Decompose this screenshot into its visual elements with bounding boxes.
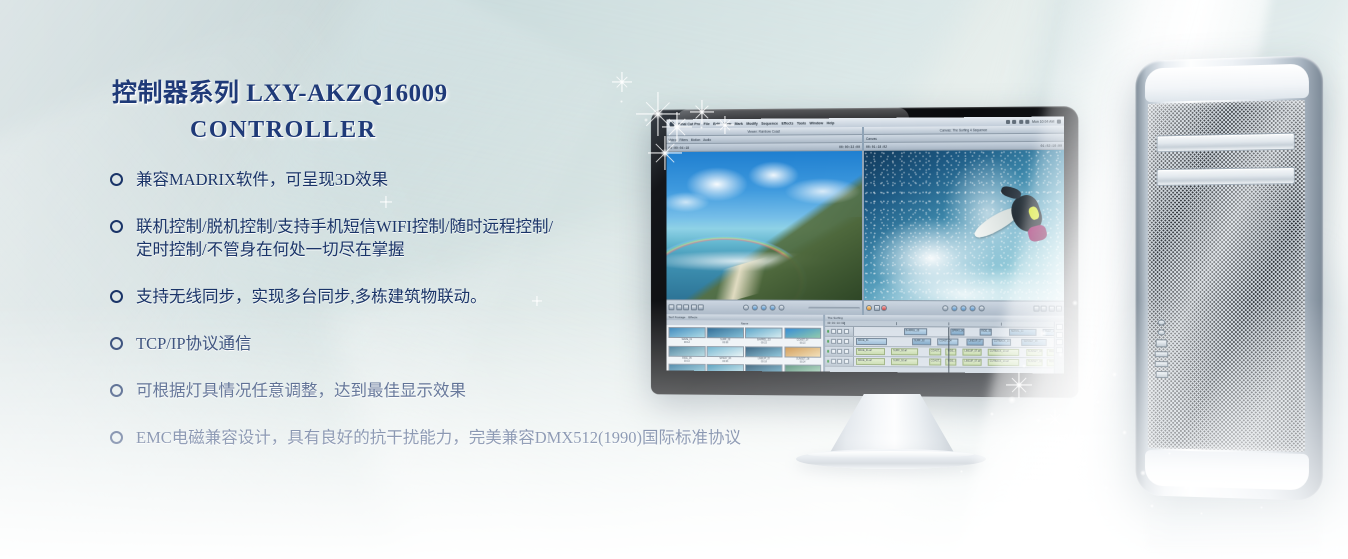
optical-drive-bay-2[interactable] xyxy=(1157,167,1295,186)
timeline-clip[interactable]: BARREL_03 xyxy=(904,328,927,336)
viewer-left-duration-timecode[interactable]: 00:00:32:00 xyxy=(839,145,860,149)
replace-edit-icon[interactable] xyxy=(1048,306,1054,312)
tower-mesh-grille xyxy=(1148,100,1305,452)
surfer-wave-image xyxy=(864,150,1064,301)
status-led-icon xyxy=(1158,329,1166,335)
clip-thumbnail-grid[interactable]: WAVE_0100:12SURF_0200:08BARREL_0300:15CO… xyxy=(667,325,824,372)
bokeh-particle xyxy=(1090,340,1094,344)
menu-item-mark[interactable]: Mark xyxy=(735,121,743,125)
menu-item-help[interactable]: Help xyxy=(827,121,835,125)
clip-thumbnail[interactable]: REEF_1200:16 xyxy=(784,364,821,371)
bokeh-particle xyxy=(1104,486,1108,490)
spotlight-icon[interactable] xyxy=(1057,119,1061,123)
linking-icon[interactable] xyxy=(1056,347,1063,353)
timeline-clip[interactable]: SUNSET_08.aif xyxy=(1026,359,1043,367)
canvas-play-icon[interactable] xyxy=(960,305,966,311)
timeline-track[interactable]: WAVE_01.aifSURF_02.aifCOAST_04.aifRIDE_0… xyxy=(825,357,1064,369)
clip-thumbnail-image xyxy=(668,364,705,372)
volume-icon[interactable] xyxy=(1012,119,1016,123)
clip-thumbnail-image xyxy=(707,346,744,357)
tab-effects[interactable]: Effects xyxy=(688,315,697,319)
viewer-left-title: Viewer: Rainbow Coast xyxy=(747,129,780,133)
boardshorts-shape xyxy=(1027,223,1048,242)
page-title: 控制器系列 LXY-AKZQ16009 xyxy=(0,78,860,110)
clip-duration-label: 00:24 xyxy=(800,360,806,363)
timeline-clip[interactable]: SURF_02.aif xyxy=(891,348,918,356)
timeline-clip[interactable]: RIDE_05.aif xyxy=(946,348,956,356)
viewer-pane-left: Viewer: Rainbow Coast Video Filters Moti… xyxy=(667,127,862,315)
track-control-icon[interactable] xyxy=(837,329,842,334)
snapping-icon[interactable] xyxy=(1056,339,1063,345)
tab-video[interactable]: Video xyxy=(668,138,676,142)
feature-text: EMC电磁兼容设计，具有良好的抗干扰能力，完美兼容DMX512(1990)国际标… xyxy=(136,426,860,449)
play-icon[interactable] xyxy=(761,305,767,311)
canvas-play-reverse-icon[interactable] xyxy=(951,305,957,311)
timeline-clip[interactable]: WAVE_01.aif xyxy=(856,348,885,356)
bokeh-particle xyxy=(1064,434,1070,440)
clip-thumbnail[interactable]: COAST_0400:21 xyxy=(784,328,821,345)
track-visibility-icon[interactable] xyxy=(827,360,829,363)
tab-filters[interactable]: Filters xyxy=(679,138,687,142)
track-control-icon[interactable] xyxy=(831,339,836,344)
list-item: EMC电磁兼容设计，具有良好的抗干扰能力，完美兼容DMX512(1990)国际标… xyxy=(0,426,860,449)
timeline-right-rail[interactable] xyxy=(1054,322,1064,374)
bokeh-particle xyxy=(1036,418,1041,423)
optical-drive-bay-1[interactable] xyxy=(1157,133,1295,153)
track-visibility-icon[interactable] xyxy=(827,340,829,343)
timeline-timecode: 00:01:18:02 xyxy=(827,322,844,325)
zoom-tool-icon[interactable] xyxy=(683,304,689,310)
bullet-ring-icon xyxy=(110,220,123,233)
bokeh-particle xyxy=(1112,372,1117,377)
clip-thumbnail[interactable]: AERIAL_1100:07 xyxy=(745,364,782,372)
coastal-rainbow-image xyxy=(667,151,862,300)
viewer-left-toolbar[interactable] xyxy=(667,299,862,315)
clip-thumbnail[interactable]: LINEUP_0700:18 xyxy=(745,346,782,363)
timeline-tracks[interactable]: BARREL_03SPRAY_06RIDE_05AERIAL_11REEF_12… xyxy=(825,327,1064,374)
track-control-icon[interactable] xyxy=(837,349,842,354)
track-control-icon[interactable] xyxy=(831,359,836,364)
computer-monitor: Final Cut Pro File Edit View Mark Modify… xyxy=(648,108,1076,396)
timeline-panel: The Surfing 00:01:18:02 BARREL_03SPRAY_0… xyxy=(825,315,1064,374)
clip-thumbnail-image xyxy=(745,327,782,338)
menu-item-app[interactable]: Final Cut Pro xyxy=(678,122,700,126)
viewer-left-scrub-group xyxy=(808,306,860,309)
track-gutter[interactable] xyxy=(825,357,853,366)
track-visibility-icon[interactable] xyxy=(827,350,829,353)
canvas-mark-in-icon[interactable] xyxy=(942,305,948,311)
clip-thumbnail-image xyxy=(668,345,705,356)
timeline-clip[interactable]: WAVE_01 xyxy=(856,338,887,346)
clip-thumbnail-image xyxy=(745,346,782,357)
monitor-stand-base-highlight xyxy=(808,451,974,458)
clip-thumbnail[interactable]: BARREL_0300:15 xyxy=(745,327,782,344)
bokeh-particle xyxy=(1080,460,1087,467)
timeline-clip[interactable]: CUTBACK_10 xyxy=(992,338,1011,346)
track-control-icon[interactable] xyxy=(831,349,836,354)
timeline-clip[interactable]: SURF_02.aif xyxy=(891,358,918,366)
viewer-left-video-image xyxy=(667,151,862,300)
tower-reflection xyxy=(1146,496,1321,550)
menu-item-sequence[interactable]: Sequence xyxy=(761,121,778,125)
track-control-icon[interactable] xyxy=(837,339,842,344)
tower-bottom-panel xyxy=(1145,450,1309,491)
bullet-ring-icon xyxy=(110,173,123,186)
track-control-icon[interactable] xyxy=(831,329,836,334)
timeline-clip[interactable]: SUNSET_08 xyxy=(1022,338,1047,346)
clip-thumbnail-image xyxy=(707,327,744,338)
scrubber-slider[interactable] xyxy=(808,306,860,309)
clip-thumbnail[interactable]: SUNSET_0800:24 xyxy=(784,346,821,363)
canvas-video-image xyxy=(864,150,1064,301)
distort-tool-icon[interactable] xyxy=(698,304,704,310)
bokeh-particle xyxy=(990,412,994,416)
clip-thumbnail-image xyxy=(745,364,782,372)
mark-in-icon[interactable] xyxy=(743,305,749,311)
tab-the-surfing[interactable]: The Surfing xyxy=(827,316,842,320)
bokeh-particle xyxy=(1122,430,1127,435)
canvas-toolbar[interactable] xyxy=(864,300,1064,316)
track-control-icon[interactable] xyxy=(844,329,849,334)
menu-item-view[interactable]: View xyxy=(723,121,731,125)
desktop-tower-computer xyxy=(1135,55,1323,501)
timeline-clip[interactable]: LINEUP_07.aif xyxy=(962,348,981,356)
bokeh-particle xyxy=(1096,400,1100,404)
timeline-clip[interactable]: CUTBACK_10.aif xyxy=(988,358,1020,366)
viewer-left-tool-group xyxy=(668,304,703,310)
menu-item-edit[interactable]: Edit xyxy=(713,122,720,126)
menu-bar-status-area: Mon 10:04 AM xyxy=(1006,119,1061,123)
viewer-left-current-timecode[interactable]: 00:00:04:18 xyxy=(668,146,689,150)
track-control-icon[interactable] xyxy=(844,339,849,344)
menu-item-tools[interactable]: Tools xyxy=(797,121,806,125)
timeline-clip[interactable]: COAST_04.aif xyxy=(929,348,942,356)
bokeh-particle xyxy=(1068,498,1073,503)
fit-to-fill-icon[interactable] xyxy=(1056,306,1062,312)
track-gutter[interactable] xyxy=(825,347,853,356)
bokeh-particle xyxy=(960,470,963,473)
marker-icon[interactable] xyxy=(866,305,872,311)
track-lane[interactable]: BARREL_03SPRAY_06RIDE_05AERIAL_11REEF_12 xyxy=(854,327,1064,337)
product-banner: 控制器系列 LXY-AKZQ16009 CONTROLLER 兼容MADRIX软… xyxy=(0,0,1348,559)
tower-port-panel xyxy=(1153,320,1170,379)
canvas-current-timecode[interactable]: 00:01:18:02 xyxy=(866,144,887,148)
canvas-marker-group xyxy=(866,305,887,311)
firewire-port-icon[interactable] xyxy=(1156,339,1168,347)
lower-panels: Surf Footage Effects Name WAVE_0100:12SU… xyxy=(667,314,1065,373)
tower-top-panel xyxy=(1145,64,1309,103)
canvas-edit-group xyxy=(1033,306,1062,312)
timeline-clip[interactable]: SPRAY_06 xyxy=(950,328,965,336)
insert-edit-icon[interactable] xyxy=(1033,306,1039,312)
selection-tool-icon[interactable] xyxy=(668,304,674,310)
timeline-clip[interactable]: LINEUP_07 xyxy=(967,338,984,346)
usb-port-icon-1[interactable] xyxy=(1155,351,1169,357)
canvas-mark-out-icon[interactable] xyxy=(979,305,985,311)
track-control-icon[interactable] xyxy=(837,359,842,364)
battery-icon[interactable] xyxy=(1025,119,1029,123)
track-lane[interactable]: WAVE_01.aifSURF_02.aifCOAST_04.aifRIDE_0… xyxy=(854,357,1064,367)
clip-thumbnail[interactable]: PADDLE_0900:09 xyxy=(668,364,705,372)
monitor-screen: Final Cut Pro File Edit View Mark Modify… xyxy=(667,117,1065,374)
tab-surf-footage[interactable]: Surf Footage xyxy=(668,315,685,319)
menu-item-modify[interactable]: Modify xyxy=(746,121,757,125)
track-gutter[interactable] xyxy=(825,337,853,346)
sparkle-star-icon xyxy=(1046,410,1064,428)
menu-item-effects[interactable]: Effects xyxy=(781,121,793,125)
clip-thumbnail-image xyxy=(668,327,705,338)
wifi-icon[interactable] xyxy=(1019,119,1023,123)
canvas-duration-timecode[interactable]: 01:02:10:00 xyxy=(1041,143,1062,147)
bokeh-particle xyxy=(1030,500,1033,503)
record-icon[interactable] xyxy=(881,305,887,311)
track-gutter[interactable] xyxy=(825,327,853,336)
apple-logo-icon[interactable] xyxy=(669,121,674,127)
clip-thumbnail-image xyxy=(784,328,821,339)
mark-out-icon[interactable] xyxy=(779,305,785,311)
track-visibility-icon[interactable] xyxy=(827,330,829,333)
timeline-clip[interactable]: SUNSET_08.aif xyxy=(1026,349,1043,357)
bullet-ring-icon xyxy=(110,384,123,397)
bullet-ring-icon xyxy=(110,431,123,444)
clip-duration-label: 00:21 xyxy=(800,342,806,345)
tab-motion[interactable]: Motion xyxy=(691,138,700,142)
canvas-title: Canvas: The Surfing 4 Sequence xyxy=(940,128,987,132)
clip-duration-label: 00:08 xyxy=(722,341,728,344)
clip-duration-label: 00:06 xyxy=(722,360,728,363)
bokeh-particle xyxy=(1010,440,1013,443)
clip-thumbnail[interactable]: SPRAY_0600:06 xyxy=(707,346,744,363)
menu-item-file[interactable]: File xyxy=(704,122,710,126)
clip-duration-label: 00:12 xyxy=(684,341,690,344)
browser-panel: Surf Footage Effects Name WAVE_0100:12SU… xyxy=(667,314,824,372)
track-control-icon[interactable] xyxy=(844,349,849,354)
clip-duration-label: 00:10 xyxy=(684,359,690,362)
usb-port-icon-2[interactable] xyxy=(1155,361,1169,367)
headphone-jack-icon[interactable] xyxy=(1155,371,1168,378)
clip-duration-label: 00:15 xyxy=(761,341,767,344)
play-reverse-icon[interactable] xyxy=(752,305,758,311)
play-forward-icon[interactable] xyxy=(770,305,776,311)
bluetooth-icon[interactable] xyxy=(1006,119,1010,123)
timeline-playhead[interactable] xyxy=(949,327,950,373)
timeline-clip[interactable]: COAST_04.aif xyxy=(929,358,942,366)
clip-thumbnail[interactable]: SURF_0200:08 xyxy=(707,327,744,344)
keyframe-icon[interactable] xyxy=(873,305,879,311)
track-control-icon[interactable] xyxy=(844,359,849,364)
overwrite-edit-icon[interactable] xyxy=(1041,306,1047,312)
timeline-clip[interactable]: SURF_02 xyxy=(912,338,931,346)
crop-tool-icon[interactable] xyxy=(690,304,696,310)
bullet-ring-icon xyxy=(110,337,123,350)
clip-duration-label: 00:18 xyxy=(761,360,767,363)
canvas-play-forward-icon[interactable] xyxy=(970,305,976,311)
clip-thumbnail[interactable]: WAVE_0100:12 xyxy=(668,327,705,344)
tab-canvas[interactable]: Canvas xyxy=(866,136,877,140)
clip-thumbnail[interactable]: CUTBACK_1000:13 xyxy=(707,364,744,372)
bullet-ring-icon xyxy=(110,290,123,303)
clip-thumbnail[interactable]: RIDE_0500:10 xyxy=(668,345,705,362)
timeline-clip[interactable]: RIDE_05.aif xyxy=(946,358,956,366)
timeline-clip[interactable]: RIDE_05 xyxy=(979,328,992,336)
power-button-icon[interactable] xyxy=(1158,320,1166,326)
timeline-clip[interactable]: CUTBACK_10.aif xyxy=(988,348,1020,356)
clip-thumbnail-image xyxy=(784,364,821,371)
timeline-clip[interactable]: LINEUP_07.aif xyxy=(962,358,981,366)
viewer-pane-right: Canvas: The Surfing 4 Sequence Canvas 00… xyxy=(864,126,1064,316)
audio-meter-icon[interactable] xyxy=(1056,324,1063,330)
tab-audio[interactable]: Audio xyxy=(703,137,711,141)
clip-thumbnail-image xyxy=(707,364,744,372)
track-lane[interactable]: WAVE_01.aifSURF_02.aifCOAST_04.aifRIDE_0… xyxy=(854,347,1064,357)
viewer-panes: Viewer: Rainbow Coast Video Filters Moti… xyxy=(667,126,1065,316)
timeline-clip[interactable]: WAVE_01.aif xyxy=(856,358,885,366)
razor-tool-icon[interactable] xyxy=(676,304,682,310)
menu-bar-clock[interactable]: Mon 10:04 AM xyxy=(1032,119,1054,123)
timeline-clip[interactable]: AERIAL_11 xyxy=(1009,328,1037,336)
clip-thumbnail-image xyxy=(784,346,821,357)
surfer-figure xyxy=(983,183,1051,261)
bokeh-particle xyxy=(1048,470,1052,474)
menu-item-window[interactable]: Window xyxy=(810,121,824,125)
track-height-icon[interactable] xyxy=(1056,331,1063,337)
track-lane[interactable]: WAVE_01SURF_02COAST_04LINEUP_07CUTBACK_1… xyxy=(854,337,1064,347)
